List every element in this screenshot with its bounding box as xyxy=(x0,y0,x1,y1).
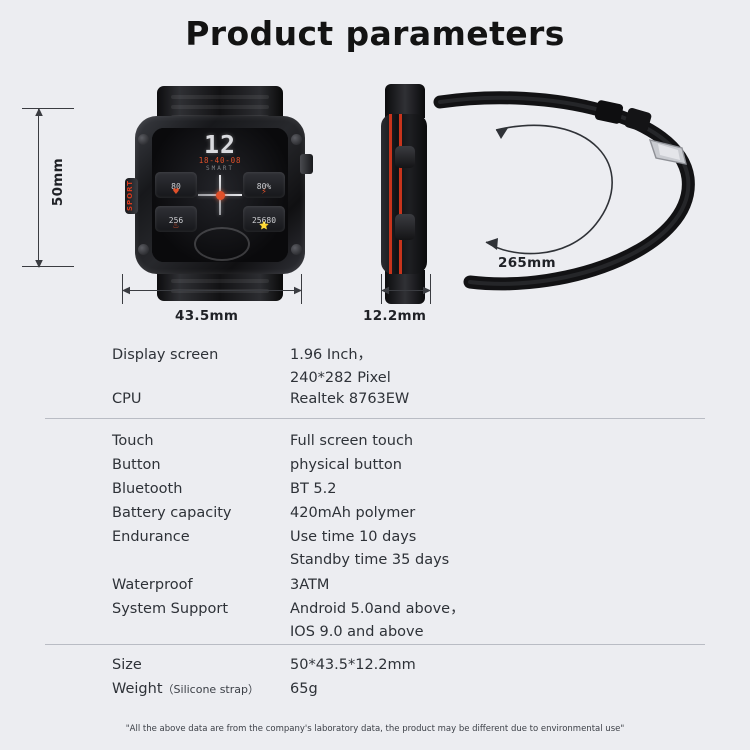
sport-button-label: SPORT xyxy=(126,176,137,216)
flame-icon: ♨ xyxy=(155,221,197,230)
spec-value: 1.96 Inch， 240*282 Pixel xyxy=(290,344,391,390)
spec-key: Battery capacity xyxy=(0,502,290,525)
spec-key: Size xyxy=(0,654,290,677)
watch-time: 12 xyxy=(152,130,288,159)
width-dim-arrows xyxy=(120,284,304,297)
watch-screen[interactable]: 12 18-40-08 SMART 80 ♥ 80% ⚡ 256 xyxy=(152,128,288,262)
spec-key-suffix: （Silicone strap） xyxy=(163,683,259,696)
spec-value: Full screen touch xyxy=(290,430,413,453)
spec-value-line1: 420mAh polymer xyxy=(290,505,415,521)
spec-row: Endurance Use time 10 days Standby time … xyxy=(0,526,750,572)
spec-value-line1: BT 5.2 xyxy=(290,481,336,497)
side-accent-stripe xyxy=(389,114,392,274)
watch-case: SPORT 12 18-40-08 SMART 80 ♥ 80% ⚡ xyxy=(135,116,305,274)
spec-row: CPU Realtek 8763EW xyxy=(0,388,750,411)
spec-row: Battery capacity 420mAh polymer xyxy=(0,502,750,525)
spec-key: Button xyxy=(0,454,290,477)
spec-key: Waterproof xyxy=(0,574,290,597)
spec-row: Size 50*43.5*12.2mm xyxy=(0,654,750,677)
spec-value: Realtek 8763EW xyxy=(290,388,409,411)
spec-row: System Support Android 5.0and above， IOS… xyxy=(0,598,750,644)
product-parameters-page: Product parameters 50mm xyxy=(0,0,750,750)
spec-key: Bluetooth xyxy=(0,478,290,501)
spec-value-line2: IOS 9.0 and above xyxy=(290,621,465,644)
spec-row: Touch Full screen touch xyxy=(0,430,750,453)
spec-value-line1: Realtek 8763EW xyxy=(290,391,409,407)
spec-value: 65g xyxy=(290,678,318,701)
screw-top-left-icon xyxy=(138,134,149,145)
spec-value-line1: physical button xyxy=(290,457,402,473)
height-dim-extension-bottom xyxy=(22,266,74,267)
strap-loop-illustration xyxy=(400,78,720,308)
watch-front-view: SPORT 12 18-40-08 SMART 80 ♥ 80% ⚡ xyxy=(127,86,313,301)
watch-crown[interactable] xyxy=(300,154,313,174)
spec-row: Bluetooth BT 5.2 xyxy=(0,478,750,501)
spec-value: physical button xyxy=(290,454,402,477)
thickness-dimension-label: 12.2mm xyxy=(363,308,426,324)
spec-value: 50*43.5*12.2mm xyxy=(290,654,416,677)
spec-value-line1: Full screen touch xyxy=(290,433,413,449)
height-dim-extension-top xyxy=(22,108,74,109)
spec-value-line1: 50*43.5*12.2mm xyxy=(290,657,416,673)
spec-value: 420mAh polymer xyxy=(290,502,415,525)
spec-value: Android 5.0and above， IOS 9.0 and above xyxy=(290,598,465,644)
spec-value-line2: 240*282 Pixel xyxy=(290,367,391,390)
watch-hand-hub xyxy=(216,191,225,200)
heart-icon: ♥ xyxy=(155,187,197,196)
dial-ring xyxy=(194,227,250,261)
spec-value-line1: 65g xyxy=(290,681,318,697)
spec-row: Waterproof 3ATM xyxy=(0,574,750,597)
spec-value-line1: Use time 10 days xyxy=(290,529,416,545)
screw-top-right-icon xyxy=(291,134,302,145)
product-illustration: 50mm SPORT xyxy=(0,78,750,333)
spec-key: Endurance xyxy=(0,526,290,572)
widget-tile: 80 ♥ xyxy=(155,172,197,198)
spec-row: Button physical button xyxy=(0,454,750,477)
watch-date: 18-40-08 xyxy=(152,156,288,165)
spec-value-line1: 3ATM xyxy=(290,577,329,593)
width-dimension-label: 43.5mm xyxy=(175,308,238,324)
spec-key: System Support xyxy=(0,598,290,644)
spec-row: Weight（Silicone strap） 65g xyxy=(0,678,750,701)
disclaimer-note: "All the above data are from the company… xyxy=(0,724,750,734)
screw-bottom-right-icon xyxy=(291,244,302,255)
spec-key: Touch xyxy=(0,430,290,453)
spec-value-line1: Android 5.0and above， xyxy=(290,601,465,617)
group-divider xyxy=(45,644,705,645)
spec-key: Weight（Silicone strap） xyxy=(0,678,290,701)
spec-value-line2: Standby time 35 days xyxy=(290,549,449,572)
page-title: Product parameters xyxy=(0,14,750,53)
widget-tile: 256 ♨ xyxy=(155,206,197,232)
watch-brand-label: SMART xyxy=(152,165,288,172)
battery-icon: ⚡ xyxy=(243,187,285,196)
height-dimension-label: 50mm xyxy=(50,158,66,206)
spec-key-text: Weight xyxy=(112,681,163,697)
spec-value-line1: 1.96 Inch， xyxy=(290,347,372,363)
widget-tile: 25680 ⭐ xyxy=(243,206,285,232)
spec-row: Display screen 1.96 Inch， 240*282 Pixel xyxy=(0,344,750,390)
spec-key: CPU xyxy=(0,388,290,411)
height-dim-arrows xyxy=(32,106,46,270)
spec-value: 3ATM xyxy=(290,574,329,597)
group-divider xyxy=(45,418,705,419)
spec-value: Use time 10 days Standby time 35 days xyxy=(290,526,449,572)
steps-icon: ⭐ xyxy=(243,221,285,230)
widget-tile: 80% ⚡ xyxy=(243,172,285,198)
screw-bottom-left-icon xyxy=(138,244,149,255)
strap-circumference-label: 265mm xyxy=(498,255,556,271)
spec-value: BT 5.2 xyxy=(290,478,336,501)
spec-key: Display screen xyxy=(0,344,290,390)
